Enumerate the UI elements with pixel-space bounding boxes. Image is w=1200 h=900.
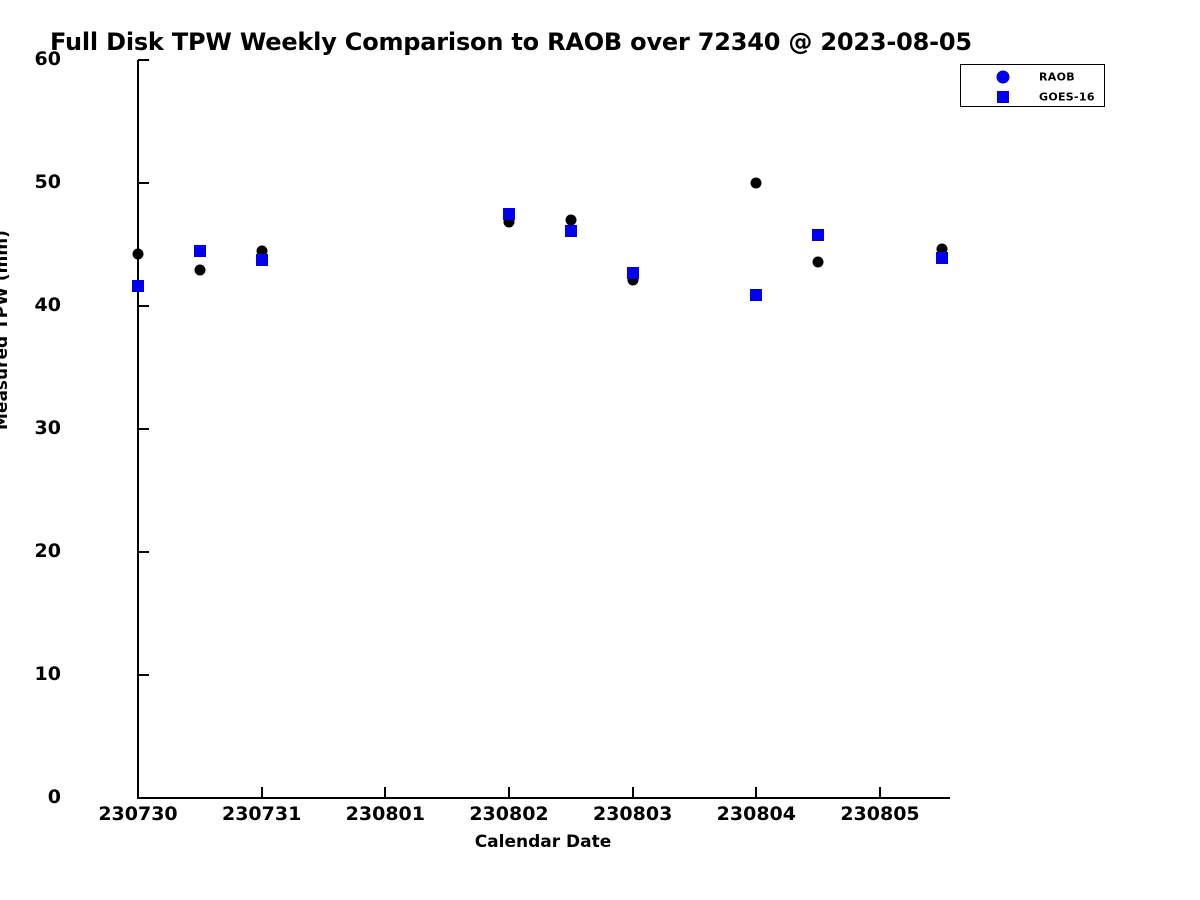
- data-point-raob: [194, 265, 205, 276]
- legend-item: GOES-16: [961, 87, 1104, 107]
- chart-title: Full Disk TPW Weekly Comparison to RAOB …: [50, 28, 972, 56]
- chart-figure: Full Disk TPW Weekly Comparison to RAOB …: [0, 0, 1200, 900]
- plot-area: [138, 60, 950, 798]
- data-point-goes-16: [565, 225, 577, 237]
- chart-legend: RAOBGOES-16: [960, 64, 1105, 107]
- x-axis-tick-label: 230730: [98, 803, 177, 825]
- data-point-raob: [751, 178, 762, 189]
- data-point-goes-16: [194, 245, 206, 257]
- legend-label: GOES-16: [1039, 91, 1095, 104]
- data-point-goes-16: [750, 289, 762, 301]
- data-point-raob: [565, 214, 576, 225]
- y-axis-tick-label: 30: [35, 417, 61, 439]
- y-axis-tick-label: 60: [35, 48, 61, 70]
- data-point-goes-16: [812, 229, 824, 241]
- y-axis-tick-label: 20: [35, 540, 61, 562]
- y-axis-tick-label: 40: [35, 294, 61, 316]
- data-point-goes-16: [132, 280, 144, 292]
- x-axis-tick-label: 230803: [593, 803, 672, 825]
- data-point-raob: [813, 256, 824, 267]
- x-axis-tick-label: 230804: [717, 803, 796, 825]
- legend-item: RAOB: [961, 67, 1104, 87]
- data-point-goes-16: [256, 254, 268, 266]
- legend-label: RAOB: [1039, 71, 1075, 84]
- x-axis-tick-label: 230801: [346, 803, 425, 825]
- x-axis-tick-label: 230805: [840, 803, 919, 825]
- y-axis-label: Measured TPW (mm): [0, 230, 12, 430]
- data-point-raob: [133, 249, 144, 260]
- legend-square-icon: [997, 91, 1009, 103]
- x-axis-tick-label: 230731: [222, 803, 301, 825]
- x-axis-tick-label: 230802: [469, 803, 548, 825]
- y-axis-tick-label: 10: [35, 663, 61, 685]
- data-point-goes-16: [503, 208, 515, 220]
- data-point-goes-16: [627, 267, 639, 279]
- y-axis-tick-label: 0: [48, 786, 61, 808]
- data-point-goes-16: [936, 252, 948, 264]
- x-axis-label: Calendar Date: [0, 832, 1086, 852]
- legend-circle-icon: [997, 71, 1010, 84]
- y-axis-tick-label: 50: [35, 171, 61, 193]
